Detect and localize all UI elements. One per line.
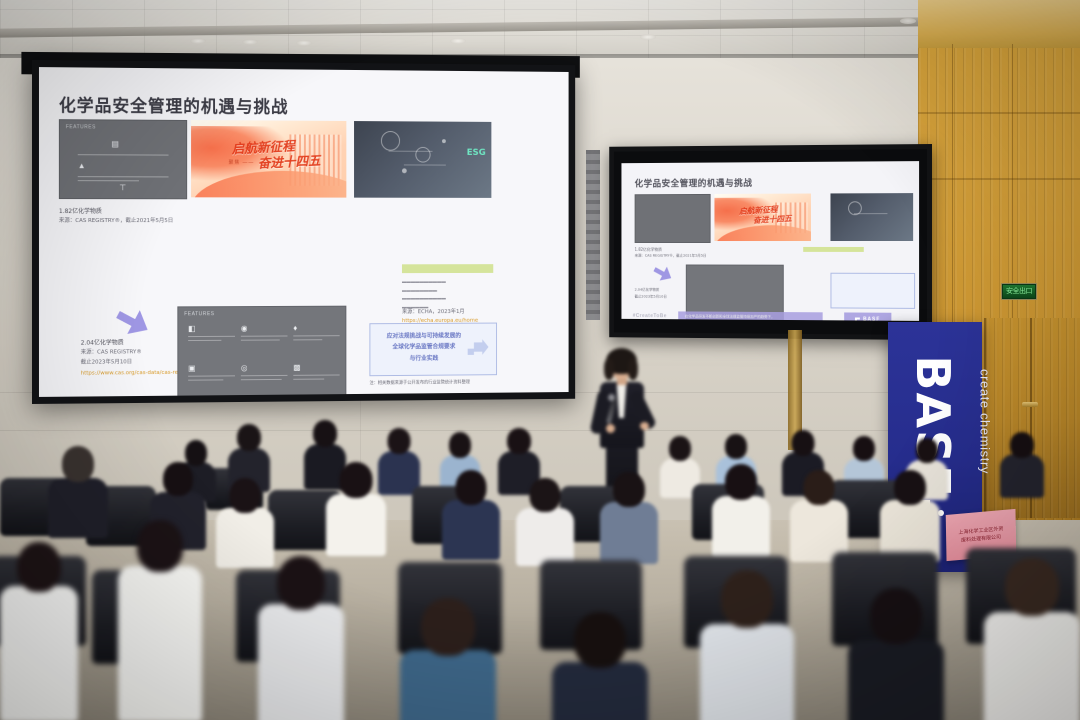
ceiling-light bbox=[190, 38, 206, 44]
attendee bbox=[600, 472, 658, 562]
feature-line bbox=[241, 335, 288, 336]
feature-cell: ◎ bbox=[241, 364, 288, 380]
attendee-body bbox=[118, 566, 202, 720]
attendee bbox=[516, 478, 574, 564]
tv-stat-2-date: 截止2023年5月10日 bbox=[635, 295, 667, 301]
feature-icon: ♦ bbox=[293, 324, 339, 332]
feature-line bbox=[188, 375, 235, 376]
attendee-head bbox=[613, 472, 645, 507]
presenter-hand-right bbox=[640, 422, 649, 430]
slide-image-esg-tech: ESG bbox=[354, 121, 491, 198]
echa-source: 来源：ECHA，2023年1月 bbox=[402, 308, 465, 317]
purple-arrow-icon bbox=[111, 300, 154, 342]
ceiling-light bbox=[900, 18, 916, 24]
feature-line bbox=[188, 336, 235, 337]
stat-2-value: 2.04亿化学物质 bbox=[81, 338, 124, 348]
feature-icon: ◧ bbox=[188, 325, 235, 333]
attendee-head bbox=[421, 598, 475, 656]
attendee-head bbox=[230, 478, 261, 513]
panel-glyph-icon: ⊤ bbox=[119, 184, 126, 192]
attendee bbox=[848, 588, 944, 720]
callout-footnote: 注：相关数据来源于公开发布的行业监管统计资料整理 bbox=[369, 379, 502, 387]
attendee-body bbox=[400, 650, 496, 720]
stat-2-date: 截止2023年5月10日 bbox=[81, 358, 132, 367]
tv-key-message-band: 在化学品研发不断创新和全球法规监管持续加严的趋势下， 产业链上下游都面临前所未有… bbox=[678, 311, 822, 320]
callout-line1: 应对法规挑战与可持续发展的 bbox=[387, 333, 461, 339]
attendee-body bbox=[516, 508, 574, 566]
tv-stat-2: 2.04亿化学物质 bbox=[635, 288, 660, 294]
banner-subtitle: 聚焦 —— bbox=[229, 159, 255, 166]
callout-line2: 全球化学品监管合规要求 bbox=[392, 345, 455, 351]
attendee-head bbox=[725, 464, 757, 500]
attendee-body bbox=[258, 604, 344, 720]
banner-headline: 启航新征程 奋进十四五 bbox=[231, 138, 326, 175]
seat-card-text: 上海化学工业区外资 废料处理有限公司 bbox=[958, 525, 1003, 546]
callout-line3: 与行业实践 bbox=[410, 356, 439, 362]
attendee-head bbox=[916, 438, 938, 463]
basf-square-icon bbox=[855, 317, 860, 321]
ceiling-light bbox=[450, 38, 466, 44]
tv-screen: 化学品安全管理的机遇与挑战 启航新征程 奋进十四五 1.82亿化学物质 来源：C… bbox=[621, 161, 919, 321]
wood-seam bbox=[918, 178, 1080, 180]
attendee-head bbox=[277, 556, 325, 610]
attendee bbox=[790, 470, 848, 560]
feature-cell: ▩ bbox=[293, 364, 339, 380]
panel-line bbox=[78, 176, 169, 177]
seat-card-line2: 废料处理有限公司 bbox=[961, 534, 1001, 544]
tech-link-line bbox=[389, 151, 433, 152]
feature-line bbox=[293, 335, 339, 336]
attendee-head bbox=[163, 462, 193, 496]
presenter-hair-side bbox=[628, 358, 638, 380]
attendee bbox=[880, 470, 940, 560]
tv-slide-title: 化学品安全管理的机遇与挑战 bbox=[635, 176, 753, 189]
attendee-head bbox=[456, 470, 487, 505]
microphone-head-icon bbox=[608, 394, 615, 401]
panel-glyph-icon: ▲ bbox=[78, 162, 86, 170]
tv-stat-1-source: 来源：CAS REGISTRY®，截止2021年5月5日 bbox=[635, 254, 707, 260]
tv-wall-bracket bbox=[586, 150, 600, 320]
wood-wall-bevel bbox=[918, 0, 1080, 48]
attendee-body bbox=[48, 478, 108, 538]
slide-image-red-banner: 启航新征程 奋进十四五 聚焦 —— bbox=[191, 120, 346, 198]
stat-1-source: 来源：CAS REGISTRY®，截止2021年5月5日 bbox=[59, 217, 173, 226]
callout-arrow-icon bbox=[468, 339, 489, 355]
feature-line bbox=[293, 339, 322, 340]
tv-banner-line2: 奋进十四五 bbox=[753, 213, 798, 225]
basf-wordmark: BASF bbox=[863, 317, 880, 321]
feature-cell: ▣ bbox=[188, 364, 235, 380]
attendee bbox=[118, 520, 202, 720]
features-panel-header: FEATURES bbox=[184, 311, 214, 317]
tv-image-dark-ui bbox=[635, 194, 711, 243]
tv-image-esg-tech bbox=[830, 193, 913, 241]
attendee-head bbox=[17, 542, 61, 592]
attendee-head bbox=[1005, 558, 1059, 616]
tech-node bbox=[402, 168, 407, 173]
presentation-room-photo: 安全出口 化学品安全管理的机遇与挑战 FEATURES ▤ ▲ ⊤ bbox=[0, 0, 1080, 720]
attendee bbox=[216, 478, 274, 566]
attendee bbox=[712, 464, 770, 556]
attendee bbox=[400, 598, 496, 720]
attendee bbox=[0, 542, 78, 720]
wood-seam bbox=[1012, 44, 1013, 324]
tv-key-message-text: 在化学品研发不断创新和全球法规监管持续加严的趋势下， 产业链上下游都面临前所未有… bbox=[685, 313, 775, 320]
attendee bbox=[984, 558, 1080, 720]
attendee-head bbox=[792, 430, 815, 456]
stat-2-source: 来源：CAS REGISTRY® bbox=[81, 348, 142, 357]
tech-link-line bbox=[404, 164, 446, 165]
stat-1-value: 1.82亿化学物质 bbox=[59, 207, 102, 217]
panel-line bbox=[78, 154, 169, 155]
attendee-body bbox=[326, 494, 386, 556]
tech-link-line bbox=[854, 213, 887, 214]
feature-icon: ▩ bbox=[293, 364, 339, 372]
attendee-body bbox=[848, 640, 944, 720]
feature-line bbox=[241, 339, 280, 340]
presenter-hair-side bbox=[604, 358, 614, 380]
feature-cell: ♦ bbox=[293, 324, 339, 340]
attendee-head bbox=[725, 434, 747, 459]
attendee-body bbox=[0, 586, 78, 720]
dark-panel-header: FEATURES bbox=[66, 124, 96, 130]
attendee-head bbox=[388, 428, 411, 454]
feature-line bbox=[293, 379, 324, 380]
tech-ring bbox=[381, 131, 400, 151]
ceiling-light bbox=[640, 34, 656, 40]
door-handle-icon[interactable] bbox=[1022, 402, 1038, 407]
attendee-head bbox=[669, 436, 691, 461]
slide-image-features-grid: FEATURES ◧ ◉ ♦ ▣ bbox=[177, 306, 346, 397]
attendee-head bbox=[449, 432, 471, 458]
attendee-body bbox=[600, 502, 658, 564]
feature-icon: ◉ bbox=[241, 325, 288, 333]
attendee bbox=[258, 556, 344, 720]
attendee-body bbox=[984, 612, 1080, 720]
ceiling-light bbox=[242, 39, 258, 45]
feature-cell: ◉ bbox=[241, 325, 288, 341]
attendee bbox=[700, 570, 794, 720]
attendee-head bbox=[870, 588, 922, 644]
attendee-head bbox=[507, 428, 531, 454]
wood-seam bbox=[918, 112, 1080, 114]
panel-line bbox=[78, 180, 139, 181]
feature-cell: ◧ bbox=[188, 325, 235, 341]
feature-line bbox=[241, 379, 282, 380]
attendee-head bbox=[62, 446, 94, 482]
feature-line bbox=[188, 379, 223, 380]
attendee-head bbox=[237, 424, 261, 451]
attendee-body bbox=[700, 624, 794, 720]
tv-banner-line1: 启航新征程 bbox=[739, 205, 778, 216]
presentation-slide: 化学品安全管理的机遇与挑战 FEATURES ▤ ▲ ⊤ 启航新征程 奋进十四五 bbox=[39, 67, 569, 397]
attendee-head bbox=[721, 570, 773, 628]
attendee-head bbox=[137, 520, 183, 572]
tv-green-highlight bbox=[803, 247, 864, 252]
slide-title: 化学品安全管理的机遇与挑战 bbox=[59, 91, 289, 117]
tv-monitor: 化学品安全管理的机遇与挑战 启航新征程 奋进十四五 1.82亿化学物质 来源：C… bbox=[609, 144, 932, 340]
attendee-head bbox=[894, 470, 926, 505]
attendee-body bbox=[1000, 454, 1044, 498]
attendee bbox=[552, 612, 648, 720]
projection-screen: 化学品安全管理的机遇与挑战 FEATURES ▤ ▲ ⊤ 启航新征程 奋进十四五 bbox=[32, 60, 575, 404]
attendee-head bbox=[853, 436, 875, 461]
attendee bbox=[48, 446, 108, 536]
tv-basf-logo: BASF bbox=[844, 312, 891, 320]
tv-blue-callout bbox=[830, 273, 915, 309]
slide-blue-callout: 应对法规挑战与可持续发展的 全球化学品监管合规要求 与行业实践 bbox=[369, 323, 497, 377]
attendee-head bbox=[530, 478, 561, 512]
attendee-head bbox=[340, 462, 373, 498]
stat-2-link[interactable]: https://www.cas.org/cas-data/cas-registr… bbox=[81, 369, 193, 379]
banner-tagline-text: create chemistry bbox=[978, 347, 993, 497]
feature-line bbox=[293, 374, 339, 375]
tv-image-red-banner: 启航新征程 奋进十四五 bbox=[714, 194, 811, 241]
attendee-head bbox=[804, 470, 835, 505]
tv-purple-arrow-icon bbox=[651, 261, 676, 286]
attendee-head bbox=[1010, 432, 1034, 458]
slide-right-paragraph: ▬▬▬▬▬▬▬▬▬▬▬▬▬▬▬▬▬▬▬▬▬▬▬▬▬▬▬▬▬▬▬▬▬▬ bbox=[402, 278, 495, 312]
tv-hashtag: #CreateToBe bbox=[633, 313, 667, 319]
tv-stat-1: 1.82亿化学物质 bbox=[635, 247, 662, 253]
attendee-body bbox=[442, 500, 500, 560]
attendee bbox=[326, 462, 386, 554]
attendee-body bbox=[552, 662, 648, 720]
slide-image-dark-ui: FEATURES ▤ ▲ ⊤ bbox=[59, 119, 187, 199]
tech-node bbox=[442, 139, 446, 143]
attendee bbox=[1000, 432, 1044, 496]
emergency-exit-sign: 安全出口 bbox=[1001, 283, 1037, 300]
feature-icon: ◎ bbox=[241, 364, 288, 372]
esg-badge: ESG bbox=[467, 148, 486, 158]
exit-sign-label: 安全出口 bbox=[1006, 288, 1032, 295]
tv-key-line1: 在化学品研发不断创新和全球法规监管持续加严的趋势下， bbox=[685, 314, 775, 319]
feature-line bbox=[241, 375, 288, 376]
panel-glyph-icon: ▤ bbox=[111, 140, 118, 148]
feature-icon: ▣ bbox=[188, 364, 235, 372]
tv-banner-headline: 启航新征程 奋进十四五 bbox=[739, 203, 798, 226]
callout-text: 应对法规挑战与可持续发展的 全球化学品监管合规要求 与行业实践 bbox=[378, 331, 470, 365]
attendee bbox=[442, 470, 500, 558]
feature-line bbox=[188, 340, 221, 341]
slide-green-highlight bbox=[402, 264, 493, 273]
presenter-hand-left bbox=[606, 424, 615, 433]
attendee-body bbox=[712, 496, 770, 558]
ceiling-light bbox=[296, 40, 312, 46]
attendee-head bbox=[313, 420, 337, 447]
tech-ring bbox=[415, 147, 430, 163]
attendee-head bbox=[574, 612, 626, 668]
